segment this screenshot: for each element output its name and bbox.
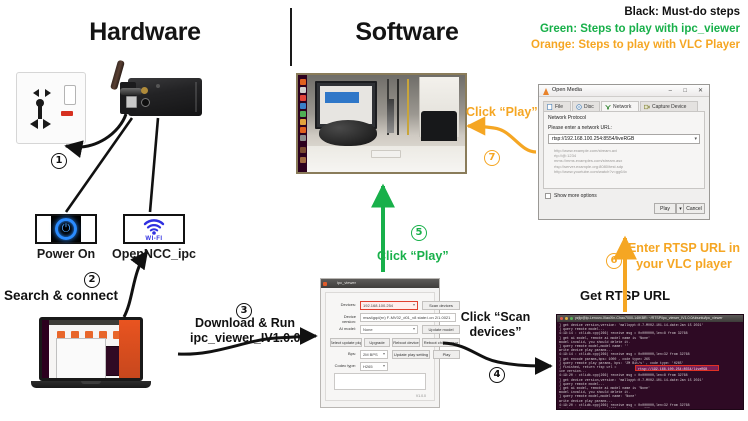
step-1-number: 1 [51, 153, 67, 169]
ipc-viewer-body: Devices: 192.168.100.254 Scan devices De… [325, 292, 435, 401]
network-url-examples: http://www.example.com/stream.avi rtp://… [554, 148, 700, 174]
tab-network-label: Network [613, 104, 631, 110]
socket-pin-bottom-right [43, 119, 51, 129]
laptop-screen [39, 317, 143, 381]
legend-green-line: Green: Steps to play with ipc_viewer [531, 21, 740, 38]
device-version-label: Device version: [330, 314, 356, 324]
vlc-cone-icon [543, 88, 549, 95]
disc-icon [576, 104, 582, 110]
ipc-viewer-version-text: V1.0.0 [416, 394, 426, 398]
example-url: http://www.yourtube.com/watch?v=gg64x [554, 169, 700, 174]
socket-pin-left [33, 89, 39, 97]
ubuntu-launcher [42, 320, 49, 378]
ipc-viewer-titlebar: ipc_viewer [321, 279, 439, 288]
launcher-strip [298, 75, 307, 172]
ai-model-select[interactable]: None [360, 325, 418, 334]
ipc-viewer-app-icon [323, 282, 327, 286]
bps-label: Bps: [330, 351, 356, 356]
ipc-viewer-window[interactable]: ipc_viewer Devices: 192.168.100.254 Scan… [320, 278, 440, 408]
terminal-title-text: yzjlp@ip-Lenovo-XiaoXin-Chao7000-14IKBR:… [575, 316, 740, 320]
power-thumb-left-fill [37, 216, 51, 242]
rtsp-url-highlight: rtsp://192.168.100.254:8554/liveRGB [635, 365, 719, 371]
camera-antenna-connector [141, 87, 148, 94]
leader-wifi-box [150, 118, 158, 212]
terminal-window[interactable]: yzjlp@ip-Lenovo-XiaoXin-Chao7000-14IKBR:… [556, 314, 744, 410]
camera-power-jack [141, 98, 150, 107]
network-icon [605, 104, 611, 110]
show-more-options-label: Show more options [554, 193, 597, 199]
step-7-marker: 7 [484, 149, 500, 166]
vlc-title-text: Open Media [552, 87, 582, 93]
vlc-play-button[interactable]: Play [654, 203, 676, 214]
wifi-badge-text: WI-FI [125, 236, 183, 242]
scene-monitor-content [325, 92, 359, 103]
devices-row: Devices: 192.168.100.254 Scan devices [330, 301, 430, 310]
step-4-marker: 4 [489, 366, 505, 383]
maximize-button[interactable]: □ [683, 88, 687, 94]
upgrade-button[interactable]: Upgrade [364, 338, 390, 347]
step-2-marker: 2 [84, 271, 100, 288]
vlc-titlebar: Open Media – □ ✕ [539, 85, 709, 97]
devices-select[interactable]: 192.168.100.254 [360, 301, 418, 310]
wifi-ssid-label: OpenNCC_ipc [108, 247, 200, 261]
openncc-camera-image [110, 76, 202, 118]
vlc-network-panel: Network Protocol Please enter a network … [543, 111, 705, 189]
scene-mouse [319, 120, 377, 146]
minimize-button[interactable]: – [669, 88, 672, 94]
capture-device-icon [644, 104, 650, 110]
legend-black-line: Black: Must-do steps [531, 4, 740, 21]
legend: Black: Must-do steps Green: Steps to pla… [531, 4, 740, 54]
laptop-desktop [42, 320, 140, 378]
launcher-icon [300, 119, 306, 125]
terminal-line: ] get encode params,bps= 1000 , code typ… [559, 407, 741, 408]
step-7-number: 7 [484, 150, 500, 166]
step-6-number: 6 [606, 253, 622, 269]
vlc-open-media-dialog[interactable]: Open Media – □ ✕ File Disc Network [538, 84, 710, 220]
launcher-icon [300, 147, 306, 153]
step-3-label: Download & Run ipc_viewer_IV1.0.0 [190, 316, 300, 346]
camera-status-led [156, 84, 160, 88]
step-1-marker: 1 [51, 150, 67, 169]
vlc-cancel-button[interactable]: Cancel [683, 203, 705, 214]
power-on-label: Power On [22, 247, 110, 261]
network-url-prompt: Please enter a network URL: [548, 125, 612, 131]
legend-orange-line: Orange: Steps to play with VLC Player [531, 37, 740, 54]
device-version-row: Device version: msa4gqd(rn) F-MV02_d01_v… [330, 313, 430, 322]
tab-file-label: File [555, 104, 563, 110]
checkbox-box[interactable] [545, 193, 551, 199]
camera-body [128, 78, 202, 116]
power-on-thumbnail: ⏻ [35, 214, 97, 244]
launcher-icon [300, 95, 306, 101]
step-2-number: 2 [84, 272, 100, 288]
minimize-icon[interactable] [565, 317, 568, 320]
laptop-trackpad-notch [81, 381, 101, 384]
ai-model-row: AI model: None Update model [330, 325, 430, 334]
power-icon: ⏻ [62, 224, 71, 235]
scene-mic-stand [387, 99, 394, 133]
play-button[interactable]: Play [433, 350, 460, 359]
bps-row: Bps: 2M BPS Update play setting Play [330, 350, 430, 359]
terminal-titlebar: yzjlp@ip-Lenovo-XiaoXin-Chao7000-14IKBR:… [557, 315, 743, 322]
step-6-label: Enter RTSP URL in your VLC player [625, 240, 743, 272]
maximize-icon[interactable] [570, 317, 573, 320]
update-buttons-row: Select update pkg Upgrade Reboot device … [330, 338, 430, 347]
tab-capture-device-label: Capture Device [652, 104, 686, 110]
select-update-pkg-button[interactable]: Select update pkg [330, 338, 362, 347]
tab-disc-label: Disc [584, 104, 594, 110]
arrow-step-7 [468, 126, 536, 152]
show-more-options-checkbox[interactable]: Show more options [545, 193, 597, 199]
software-section-title: Software [292, 18, 522, 47]
step-5-marker: 5 [411, 224, 427, 241]
update-play-setting-button[interactable]: Update play setting [392, 350, 430, 359]
ipc-viewer-log-area [334, 373, 426, 390]
socket-indicator-led [61, 111, 73, 116]
socket-pin-bottom-left [30, 119, 38, 129]
network-protocol-heading: Network Protocol [548, 115, 586, 121]
network-url-input[interactable]: rtsp://192.168.100.254:8554/liveRGB [548, 134, 700, 144]
ipc-viewer-title-text: ipc_viewer [337, 280, 356, 285]
codec-select[interactable]: H265 [360, 362, 388, 371]
socket-pin-earth [38, 101, 42, 119]
codec-row: Codec type: H265 [330, 362, 430, 371]
close-icon[interactable] [560, 317, 563, 320]
launcher-icon [300, 135, 306, 141]
ubuntu-wallpaper [119, 320, 140, 378]
wifi-ssid-thumbnail: WI-FI [123, 214, 185, 244]
camera-antenna-hinge [120, 88, 142, 95]
ai-model-label: AI model: [330, 326, 356, 331]
step-7-label: Click “Play” [466, 105, 538, 120]
arrow-step-2 [124, 252, 147, 317]
close-icon[interactable]: ✕ [698, 88, 703, 94]
reboot-device-button[interactable]: Reboot device [392, 338, 420, 347]
scene-monitor-screen [320, 86, 372, 124]
launcher-icon [300, 111, 306, 117]
socket-switch [64, 85, 76, 105]
step-4-number: 4 [489, 367, 505, 383]
launcher-icon [300, 157, 306, 163]
hardware-section-title: Hardware [0, 18, 290, 47]
bps-select[interactable]: 2M BPS [360, 350, 388, 359]
step-5-label: Click “Play” [377, 249, 449, 264]
launcher-icon [300, 103, 306, 109]
launcher-icon [300, 127, 306, 133]
file-icon [547, 104, 553, 110]
device-version-value: msa4gqd(rn) F-MV02_d01_v8 state:i.on 2/1… [360, 313, 456, 322]
scene-dark-object [421, 111, 457, 141]
launcher-icon [300, 79, 306, 85]
laptop-image [31, 317, 151, 399]
step-4-label: Click “Scan devices” [448, 310, 543, 340]
launcher-icon [300, 87, 306, 93]
scan-devices-button[interactable]: Scan devices [422, 301, 460, 310]
get-rtsp-url-caption: Get RTSP URL [580, 288, 670, 303]
wifi-icon-svg [143, 219, 165, 235]
codec-label: Codec type: [330, 363, 356, 368]
step-2-label: Search & connect [4, 288, 118, 303]
scene-usb-device [371, 150, 401, 158]
video-scene [307, 75, 465, 172]
wall-socket-image [16, 72, 86, 144]
devices-label: Devices: [330, 302, 356, 307]
camera-ethernet-port [126, 96, 137, 108]
power-thumb-right-fill [81, 216, 95, 242]
step-6-marker: 6 [606, 252, 622, 269]
rtsp-url-text: rtsp://192.168.100.254:8554/liveRGB [638, 367, 707, 371]
socket-pin-right [45, 89, 51, 97]
laptop-ipc-viewer-window [56, 338, 106, 378]
step-5-number: 5 [411, 225, 427, 241]
video-preview [296, 73, 467, 174]
